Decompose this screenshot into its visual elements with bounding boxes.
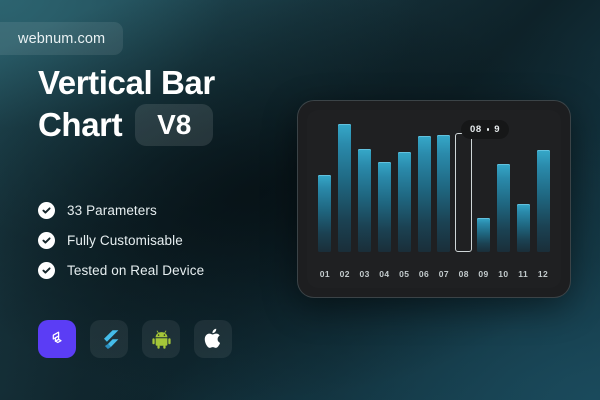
bar-slot-12[interactable] — [533, 120, 553, 252]
check-circle-icon — [38, 202, 55, 219]
poster-canvas: webnum.com Vertical Bar Chart V8 33 Para… — [0, 0, 600, 400]
bar-series — [315, 120, 553, 252]
bar-04[interactable] — [378, 162, 391, 252]
android-icon — [142, 320, 180, 358]
bar-10[interactable] — [497, 164, 510, 252]
check-circle-icon — [38, 232, 55, 249]
x-axis-tick-11: 11 — [513, 269, 533, 279]
x-axis-tick-01: 01 — [315, 269, 335, 279]
x-axis-tick-05: 05 — [394, 269, 414, 279]
x-axis-tick-04: 04 — [374, 269, 394, 279]
x-axis-tick-02: 02 — [335, 269, 355, 279]
bar-slot-06[interactable] — [414, 120, 434, 252]
bar-slot-03[interactable] — [355, 120, 375, 252]
feature-list: 33 Parameters Fully Customisable Tested … — [38, 202, 204, 279]
x-axis-tick-07: 07 — [434, 269, 454, 279]
page-title: Vertical Bar Chart V8 — [38, 62, 215, 146]
x-axis-tick-06: 06 — [414, 269, 434, 279]
brand-pill-label: webnum.com — [18, 31, 105, 47]
list-item-label: 33 Parameters — [67, 203, 157, 218]
list-item: Fully Customisable — [38, 232, 204, 249]
bar-02[interactable] — [338, 124, 351, 252]
bar-slot-10[interactable] — [493, 120, 513, 252]
bar-slot-11[interactable] — [513, 120, 533, 252]
page-title-line2-row: Chart V8 — [38, 104, 215, 146]
bar-03[interactable] — [358, 149, 371, 252]
x-axis-tick-12: 12 — [533, 269, 553, 279]
bar-07[interactable] — [437, 135, 450, 252]
tooltip-category: 08 — [470, 124, 482, 135]
list-item-label: Tested on Real Device — [67, 263, 204, 278]
version-badge: V8 — [135, 104, 213, 146]
brand-pill: webnum.com — [0, 22, 123, 55]
x-axis-tick-03: 03 — [355, 269, 375, 279]
bar-09[interactable] — [477, 218, 490, 252]
chart-plot-area: 08 9 010203040506070809101112 — [307, 110, 561, 288]
x-axis-tick-09: 09 — [474, 269, 494, 279]
bar-01[interactable] — [318, 175, 331, 252]
flutter-icon — [90, 320, 128, 358]
x-axis-tick-10: 10 — [493, 269, 513, 279]
tooltip-value: 9 — [494, 124, 500, 135]
list-item-label: Fully Customisable — [67, 233, 183, 248]
check-circle-icon — [38, 262, 55, 279]
bar-05[interactable] — [398, 152, 411, 252]
apple-icon — [194, 320, 232, 358]
page-title-line2: Chart — [38, 104, 122, 146]
bar-06[interactable] — [418, 136, 431, 252]
chart-card: 08 9 010203040506070809101112 — [297, 100, 571, 298]
bar-chart: 08 9 — [315, 120, 553, 252]
bar-slot-02[interactable] — [335, 120, 355, 252]
tooltip-separator-dot — [487, 128, 490, 131]
bar-12[interactable] — [537, 150, 550, 252]
bar-slot-07[interactable] — [434, 120, 454, 252]
bar-slot-08[interactable] — [454, 120, 474, 252]
x-axis-labels: 010203040506070809101112 — [315, 269, 553, 279]
bar-slot-09[interactable] — [474, 120, 494, 252]
bar-slot-01[interactable] — [315, 120, 335, 252]
list-item: 33 Parameters — [38, 202, 204, 219]
platform-icon-row — [38, 320, 232, 358]
bar-11[interactable] — [517, 204, 530, 252]
flutterflow-icon — [38, 320, 76, 358]
bar-08[interactable] — [455, 133, 472, 252]
list-item: Tested on Real Device — [38, 262, 204, 279]
page-title-line1: Vertical Bar — [38, 62, 215, 104]
bar-tooltip: 08 9 — [461, 120, 509, 139]
bar-slot-05[interactable] — [394, 120, 414, 252]
x-axis-tick-08: 08 — [454, 269, 474, 279]
bar-slot-04[interactable] — [374, 120, 394, 252]
